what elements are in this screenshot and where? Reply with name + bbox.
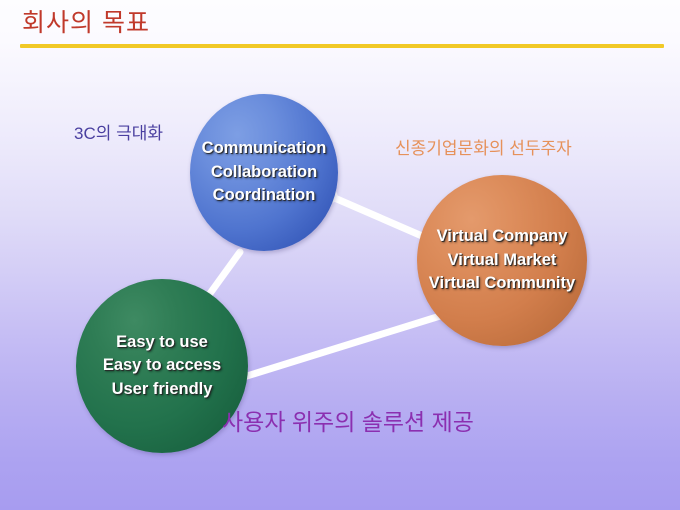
node-communication-text: Communication Collaboration Coordination [202, 137, 327, 207]
page-title: 회사의 목표 [22, 8, 150, 38]
node-usability-text: Easy to use Easy to access User friendly [103, 331, 221, 401]
slide-canvas: 회사의 목표 3C의 극대화 신종기업문화의 선두주자 Communicatio… [0, 0, 680, 510]
node-virtual[interactable]: Virtual Company Virtual Market Virtual C… [417, 175, 587, 346]
node-usability-line-2: Easy to access [103, 354, 221, 377]
annotation-leader: 신종기업문화의 선두주자 [395, 139, 572, 159]
node-communication-line-1: Communication [202, 137, 327, 160]
node-communication-line-2: Collaboration [202, 161, 327, 184]
node-virtual-line-3: Virtual Community [429, 272, 575, 295]
annotation-solution: 사용자 위주의 솔루션 제공 [222, 409, 474, 437]
title-underline-rule [20, 44, 664, 48]
node-virtual-text: Virtual Company Virtual Market Virtual C… [429, 225, 575, 295]
node-virtual-line-2: Virtual Market [429, 249, 575, 272]
connector-blue-to-green [206, 252, 240, 299]
node-virtual-line-1: Virtual Company [429, 225, 575, 248]
node-usability-line-3: User friendly [103, 378, 221, 401]
node-usability-line-1: Easy to use [103, 331, 221, 354]
node-communication-line-3: Coordination [202, 184, 327, 207]
annotation-three-c: 3C의 극대화 [74, 124, 163, 144]
connector-green-to-orange [234, 312, 453, 380]
node-communication[interactable]: Communication Collaboration Coordination [190, 94, 338, 251]
